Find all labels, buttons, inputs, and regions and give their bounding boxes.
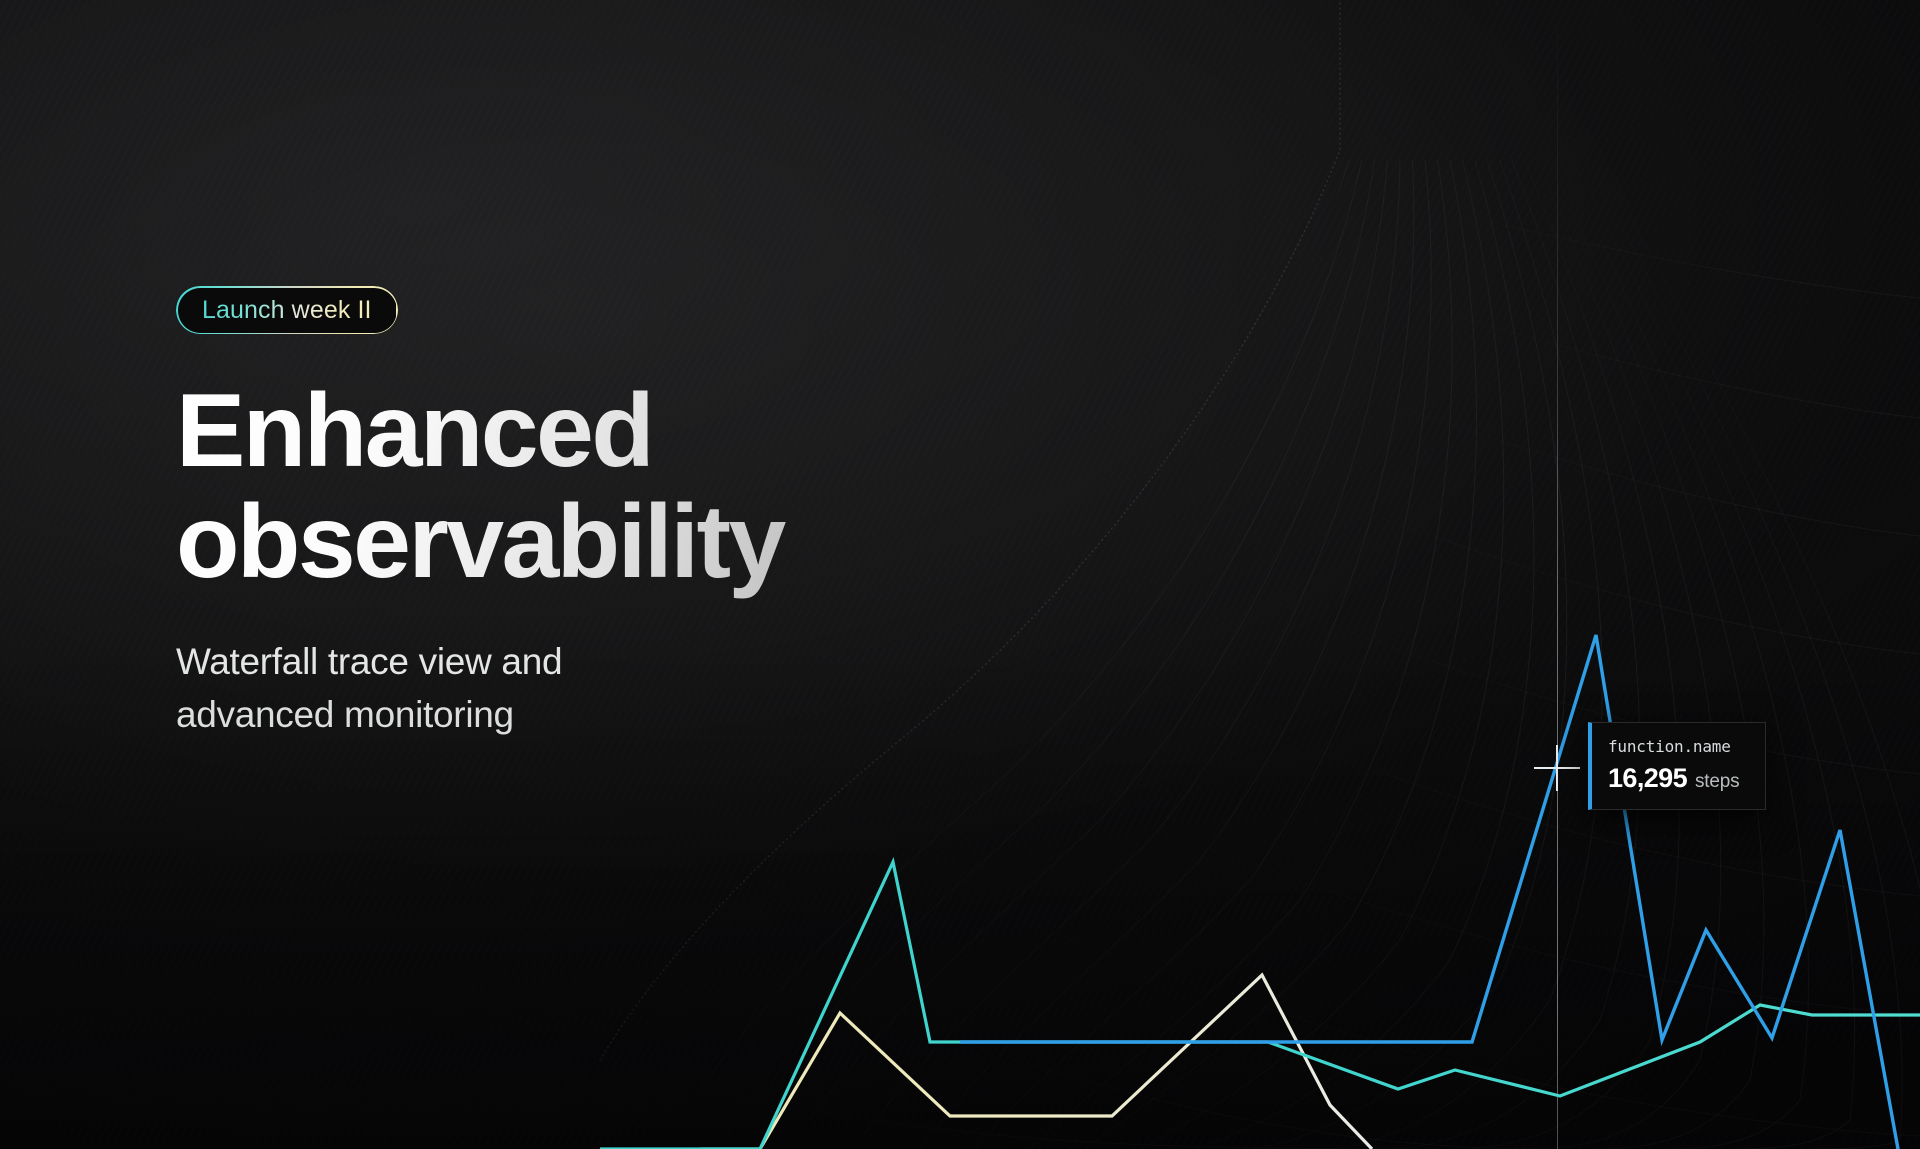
page-subtitle: Waterfall trace view and advanced monito… [176, 635, 936, 742]
trace-line-blue [960, 635, 1898, 1149]
tooltip-value: 16,295 [1608, 763, 1687, 794]
tooltip-title: function.name [1608, 737, 1749, 756]
trace-line-teal [600, 862, 1920, 1149]
page-title-line-2: observability [176, 487, 936, 598]
tooltip-unit: steps [1695, 771, 1739, 793]
launch-week-badge-label: Launch week II [202, 296, 372, 325]
page-subtitle-line-1: Waterfall trace view and [176, 635, 936, 689]
page-subtitle-line-2: advanced monitoring [176, 688, 936, 742]
launch-week-badge[interactable]: Launch week II [176, 286, 398, 334]
hero-content: Launch week II Enhanced observability Wa… [176, 286, 936, 742]
page-title: Enhanced observability [176, 376, 936, 599]
page-title-line-1: Enhanced [176, 376, 936, 487]
chart-tooltip: function.name 16,295 steps [1588, 722, 1766, 810]
hero-banner: function.name 16,295 steps Launch week I… [0, 0, 1920, 1149]
tooltip-metric-row: 16,295 steps [1608, 763, 1749, 794]
